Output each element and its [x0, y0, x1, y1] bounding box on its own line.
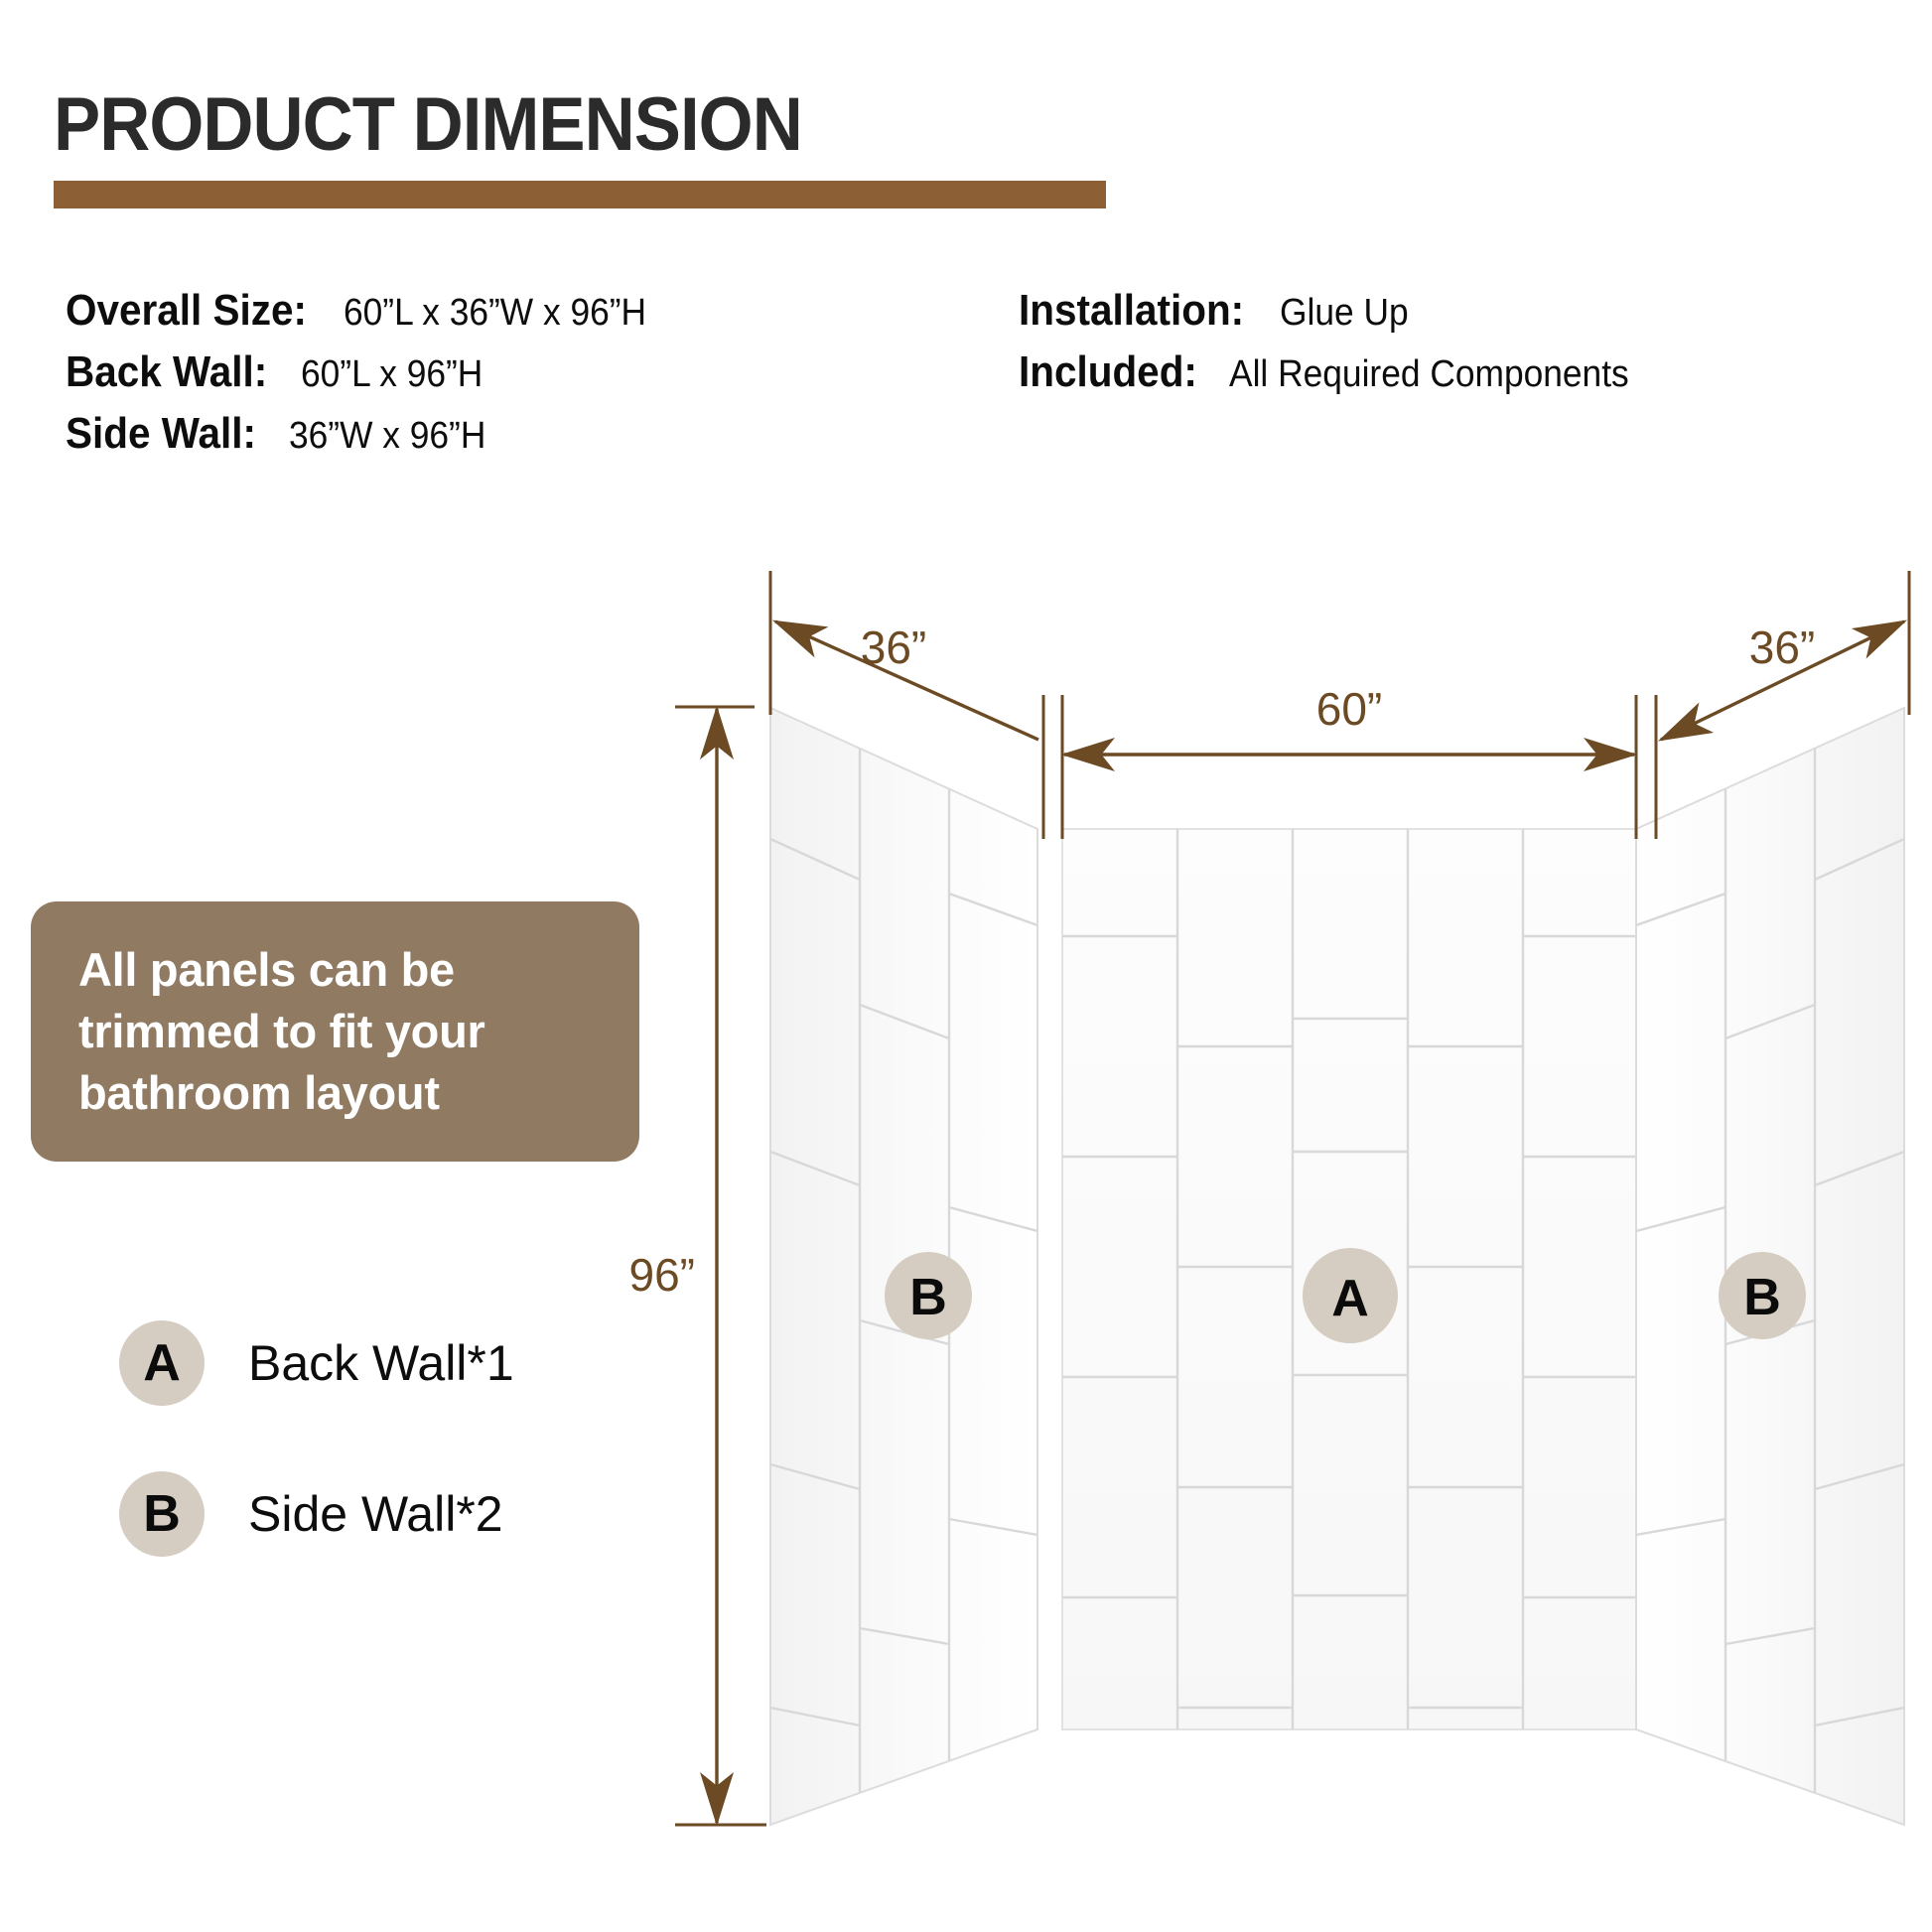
dimension-label-left-36: 36”: [861, 621, 926, 673]
dimension-back-60: 60”: [1062, 683, 1636, 839]
left-side-wall-panel: B: [770, 708, 1037, 1825]
back-wall-panel: A: [1062, 829, 1636, 1729]
panel-marker-label-a: A: [1331, 1270, 1369, 1327]
dimension-label-right-36: 36”: [1749, 621, 1815, 673]
dimension-label-height-96: 96”: [629, 1249, 695, 1301]
panel-marker-label-b-right: B: [1743, 1269, 1781, 1326]
dimension-label-back-60: 60”: [1316, 683, 1382, 735]
right-side-wall-panel: B: [1636, 708, 1904, 1825]
dimension-height-96: 96”: [629, 707, 766, 1825]
infographic-root: PRODUCT DIMENSION Overall Size: 60”L x 3…: [0, 0, 1932, 1932]
shower-wall-diagram: B: [0, 0, 1932, 1932]
panel-marker-label-b-left: B: [909, 1269, 947, 1326]
